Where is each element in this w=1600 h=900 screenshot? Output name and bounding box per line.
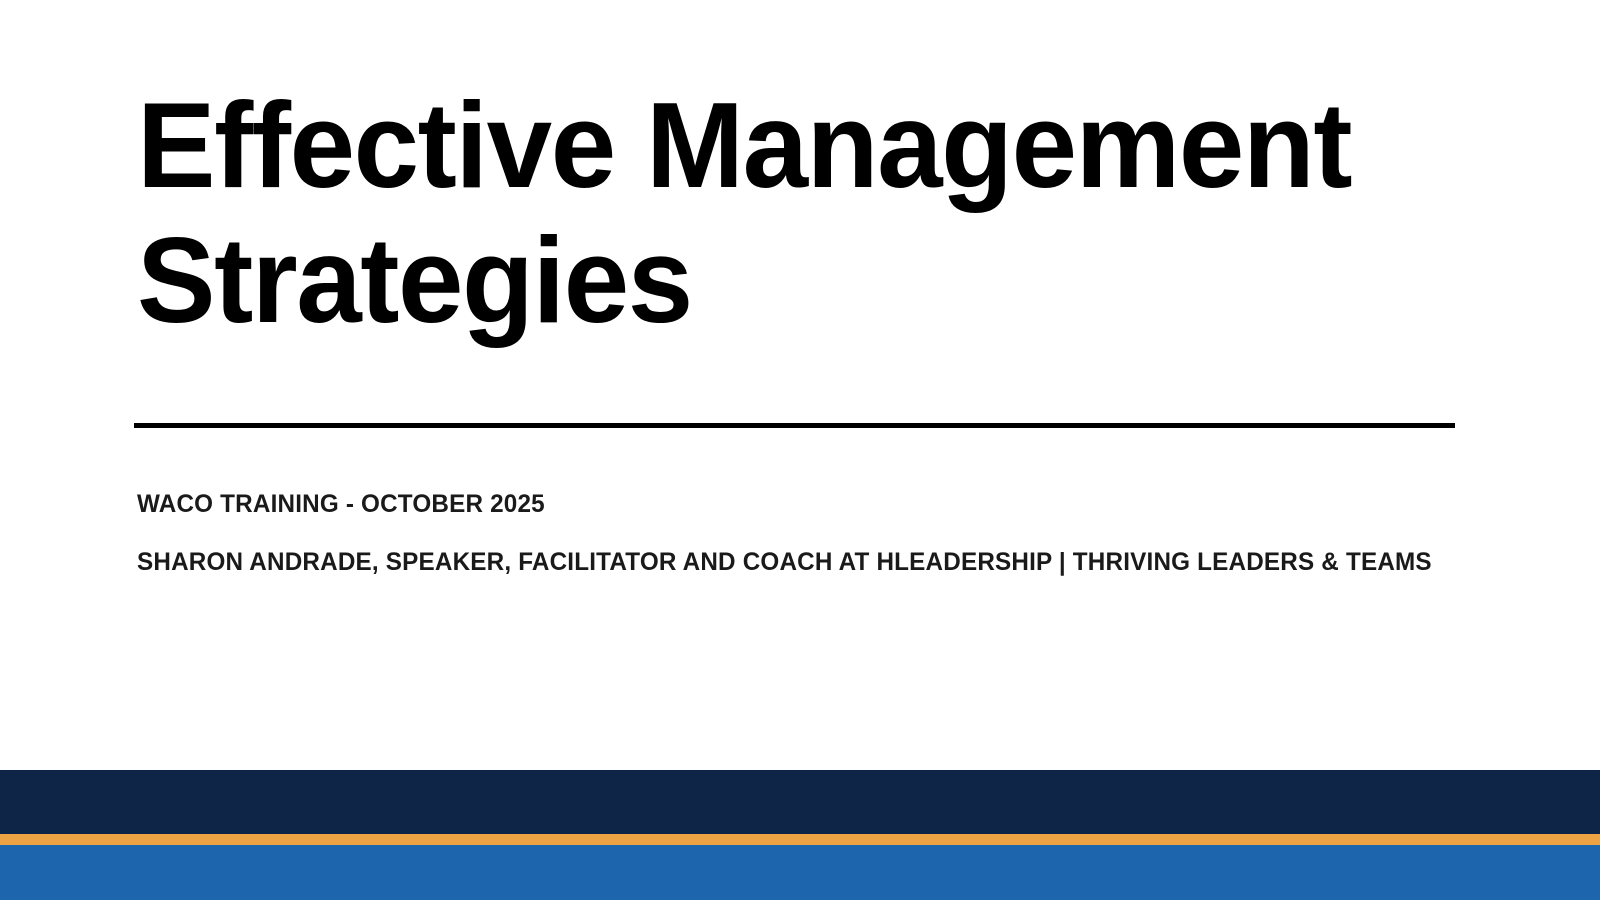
orange-band	[0, 834, 1600, 845]
title-slide: Effective Management Strategies WACO TRA…	[0, 0, 1600, 900]
page-title: Effective Management Strategies	[137, 78, 1411, 348]
bottom-decorative-bands	[0, 770, 1600, 900]
blue-band	[0, 845, 1600, 900]
horizontal-rule-divider	[134, 423, 1455, 428]
subtitle-block: WACO TRAINING - OCTOBER 2025 SHARON ANDR…	[137, 475, 1467, 591]
subtitle-event-line: WACO TRAINING - OCTOBER 2025	[137, 475, 1427, 533]
navy-band	[0, 770, 1600, 834]
title-block: Effective Management Strategies	[137, 78, 1457, 348]
subtitle-presenter-line: SHARON ANDRADE, SPEAKER, FACILITATOR AND…	[137, 533, 1427, 591]
